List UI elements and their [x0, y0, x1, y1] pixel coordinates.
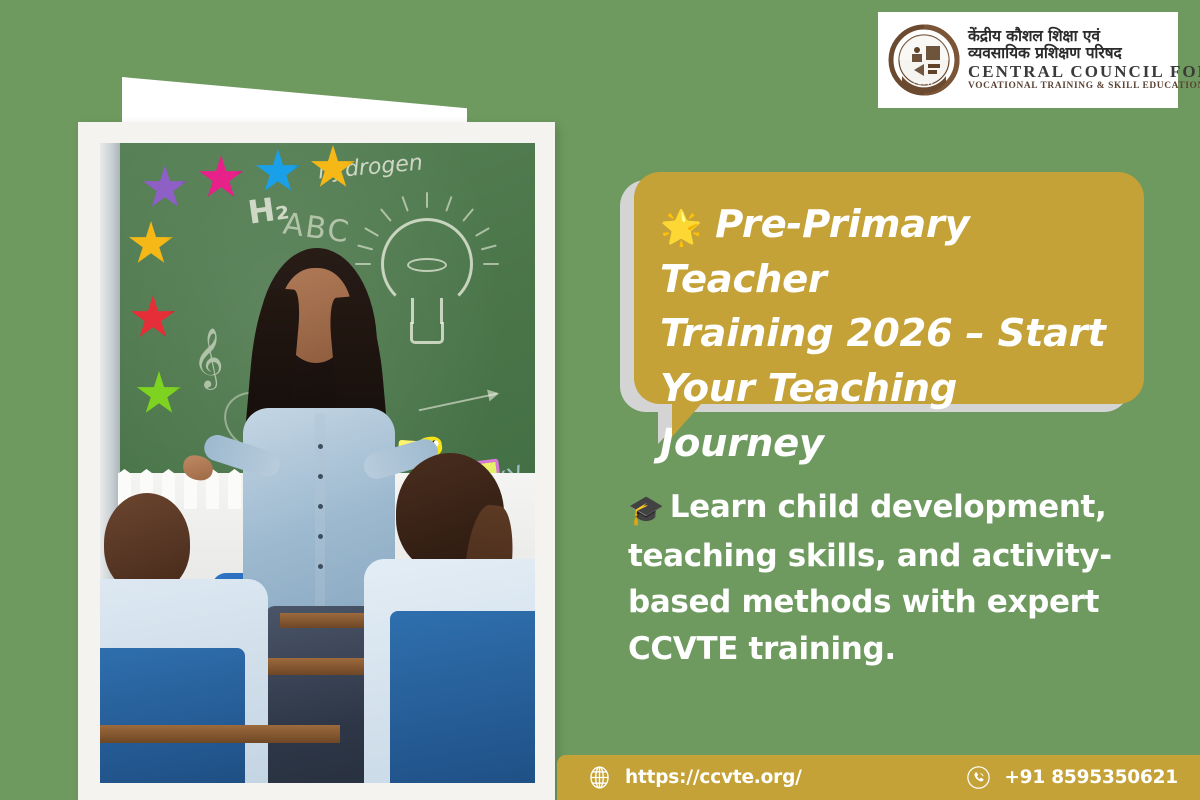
- star-sticker-blue: [255, 149, 301, 195]
- logo-hindi-line-2: व्यवसायिक प्रशिक्षण परिषद: [968, 45, 1200, 61]
- chalk-arrow-icon: [419, 393, 498, 412]
- chalk-treble-clef-icon: 𝄞: [193, 328, 224, 389]
- logo-english-line-2: VOCATIONAL TRAINING & SKILL EDUCATION: [968, 82, 1200, 92]
- star-sticker-red: [130, 295, 176, 341]
- bubble-body: 🌟 Pre-Primary Teacher Training 2026 – St…: [634, 172, 1144, 404]
- student-chair-right: [390, 611, 535, 783]
- headline-line-2: Training 2026 – Start: [660, 311, 1106, 356]
- star-sticker-magenta: [198, 155, 244, 201]
- svg-text:CCVTE: CCVTE: [913, 81, 934, 87]
- page-title: 🌟 Pre-Primary Teacher Training 2026 – St…: [660, 198, 1122, 471]
- logo-hindi-line-1: केंद्रीय कौशल शिक्षा एवं: [968, 28, 1200, 44]
- star-sticker-green: [136, 371, 182, 417]
- classroom-photograph: hydrogen H₂ ABC oxy 𝄞: [100, 143, 535, 783]
- ccvte-logo-text: केंद्रीय कौशल शिक्षा एवं व्यवसायिक प्रशि…: [968, 28, 1200, 92]
- ccvte-seal-icon: CCVTE: [888, 24, 960, 96]
- glowing-star-emoji: 🌟: [660, 208, 702, 248]
- headline-speech-bubble: 🌟 Pre-Primary Teacher Training 2026 – St…: [620, 172, 1144, 420]
- website-contact[interactable]: https://ccvte.org/: [587, 765, 802, 790]
- globe-icon: [587, 765, 612, 790]
- classroom-desk-front: [100, 725, 340, 743]
- description-body: Learn child development, teaching skills…: [628, 489, 1112, 667]
- headline-line-3: Your Teaching Journey: [660, 366, 957, 466]
- phone-in-circle-icon: [966, 765, 991, 790]
- ccvte-logo-box: CCVTE केंद्रीय कौशल शिक्षा एवं व्यवसायिक…: [878, 12, 1178, 108]
- logo-english-line-1: CENTRAL COUNCIL FOR: [968, 63, 1200, 81]
- star-sticker-purple: [142, 165, 188, 211]
- website-url[interactable]: https://ccvte.org/: [625, 767, 802, 788]
- star-sticker-yellow-left: [128, 221, 174, 267]
- student-chair-left: [100, 648, 245, 783]
- classroom-photo-card: hydrogen H₂ ABC oxy 𝄞: [78, 122, 555, 800]
- phone-contact[interactable]: +91 8595350621: [966, 765, 1178, 790]
- headline-line-1: Pre-Primary Teacher: [660, 202, 969, 302]
- graduation-cap-emoji: 🎓: [628, 493, 664, 527]
- contact-footer-bar: https://ccvte.org/ +91 8595350621: [557, 755, 1200, 800]
- description-text: 🎓Learn child development, teaching skill…: [628, 484, 1128, 672]
- phone-number[interactable]: +91 8595350621: [1004, 767, 1178, 788]
- chalk-text-abc: ABC: [281, 206, 353, 250]
